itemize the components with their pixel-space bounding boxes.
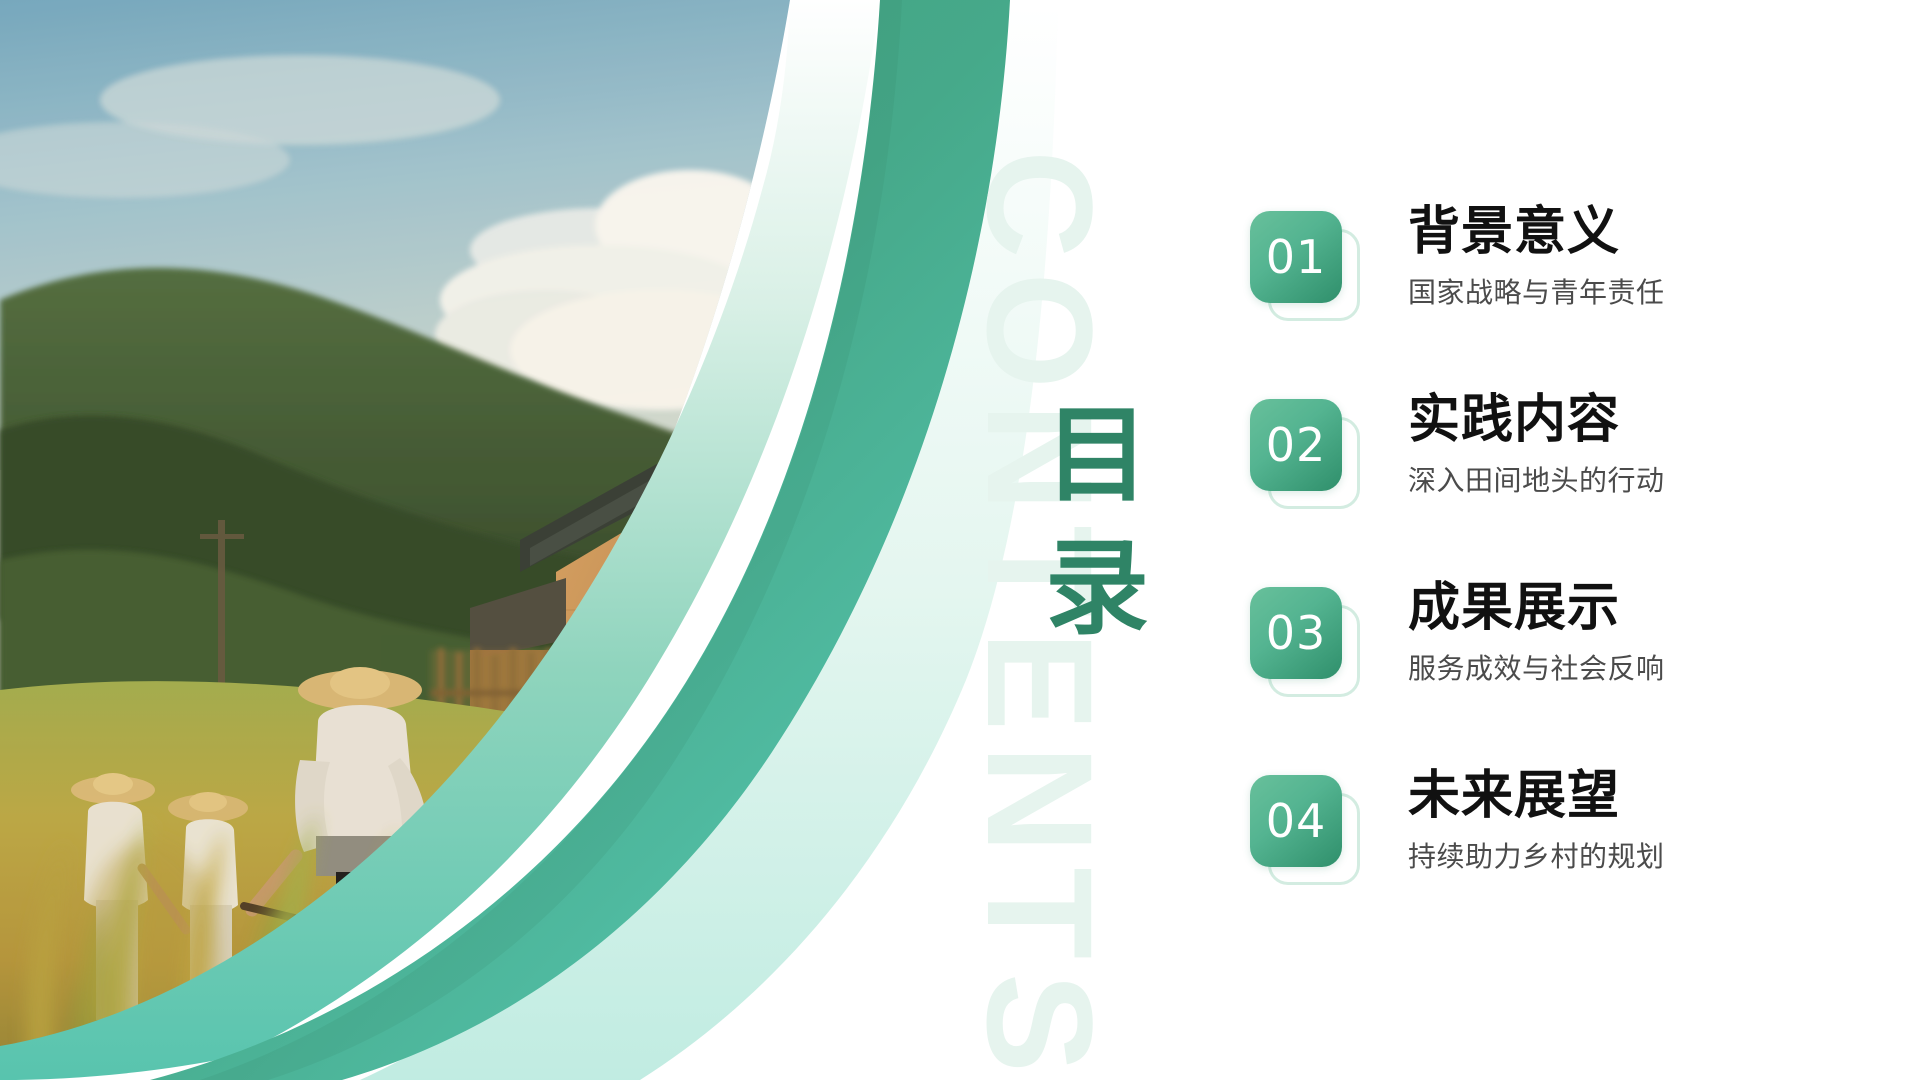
- artwork-svg: [0, 0, 1060, 1080]
- toc-texts-02: 实践内容 深入田间地头的行动: [1408, 393, 1665, 496]
- toc-title-04: 未来展望: [1408, 769, 1665, 824]
- toc-title-03: 成果展示: [1408, 581, 1665, 636]
- badge-02: 02: [1250, 399, 1362, 497]
- badge-03: 03: [1250, 587, 1362, 685]
- toc-item-03[interactable]: 03 成果展示 服务成效与社会反响: [1250, 581, 1870, 769]
- page-title-char-1: 目: [1032, 390, 1162, 523]
- toc-texts-03: 成果展示 服务成效与社会反响: [1408, 581, 1665, 684]
- badge-number-01: 01: [1266, 234, 1327, 280]
- badge-04: 04: [1250, 775, 1362, 873]
- toc-subtitle-03: 服务成效与社会反响: [1408, 654, 1665, 685]
- slide-canvas: CONTENTS 目 录 01 背景意义 国家战略与青年责任 02: [0, 0, 1920, 1080]
- toc-texts-04: 未来展望 持续助力乡村的规划: [1408, 769, 1665, 872]
- badge-tile-01: 01: [1250, 211, 1342, 303]
- toc-title-01: 背景意义: [1408, 205, 1665, 260]
- toc-item-02[interactable]: 02 实践内容 深入田间地头的行动: [1250, 393, 1870, 581]
- toc-list: 01 背景意义 国家战略与青年责任 02 实践内容 深入田间地头的行动: [1250, 205, 1870, 957]
- badge-01: 01: [1250, 211, 1362, 309]
- toc-title-02: 实践内容: [1408, 393, 1665, 448]
- badge-number-02: 02: [1266, 422, 1327, 468]
- toc-item-01[interactable]: 01 背景意义 国家战略与青年责任: [1250, 205, 1870, 393]
- toc-subtitle-02: 深入田间地头的行动: [1408, 466, 1665, 497]
- toc-subtitle-04: 持续助力乡村的规划: [1408, 842, 1665, 873]
- badge-number-03: 03: [1266, 610, 1327, 656]
- toc-subtitle-01: 国家战略与青年责任: [1408, 278, 1665, 309]
- badge-tile-04: 04: [1250, 775, 1342, 867]
- left-artwork: [0, 0, 1060, 1080]
- badge-number-04: 04: [1266, 798, 1327, 844]
- toc-item-04[interactable]: 04 未来展望 持续助力乡村的规划: [1250, 769, 1870, 957]
- badge-tile-03: 03: [1250, 587, 1342, 679]
- badge-tile-02: 02: [1250, 399, 1342, 491]
- page-title: 目 录: [1032, 390, 1162, 656]
- page-title-char-2: 录: [1032, 523, 1162, 656]
- toc-texts-01: 背景意义 国家战略与青年责任: [1408, 205, 1665, 308]
